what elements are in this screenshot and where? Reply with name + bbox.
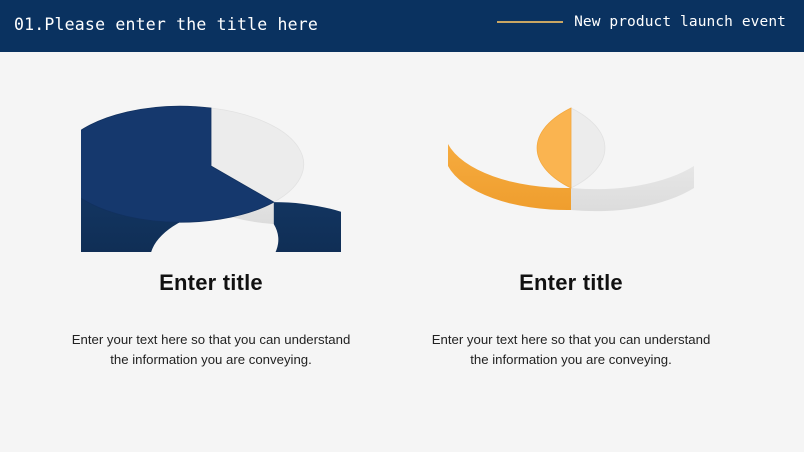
pie-right-slice-orange-top (537, 108, 571, 188)
panel-right: Enter title Enter your text here so that… (370, 52, 772, 452)
header-bar: 01.Please enter the title here New produ… (0, 0, 804, 52)
pie-right-slice-gray-top (571, 108, 605, 188)
slice-title-left: Enter title (10, 270, 412, 296)
header-subtitle: New product launch event (574, 14, 786, 30)
pie-chart-right-svg (441, 100, 701, 252)
pie-chart-right (370, 100, 772, 260)
pie-chart-left-svg (81, 100, 341, 252)
slice-body-left: Enter your text here so that you can und… (61, 330, 361, 370)
slice-body-right: Enter your text here so that you can und… (421, 330, 721, 370)
slide-content: Enter title Enter your text here so that… (0, 52, 804, 452)
panel-left: Enter title Enter your text here so that… (10, 52, 412, 452)
page-title: 01.Please enter the title here (14, 15, 318, 34)
header-right-group: New product launch event (497, 14, 786, 30)
gold-rule-divider-icon (497, 21, 563, 23)
slice-title-right: Enter title (370, 270, 772, 296)
pie-chart-left (10, 100, 412, 260)
